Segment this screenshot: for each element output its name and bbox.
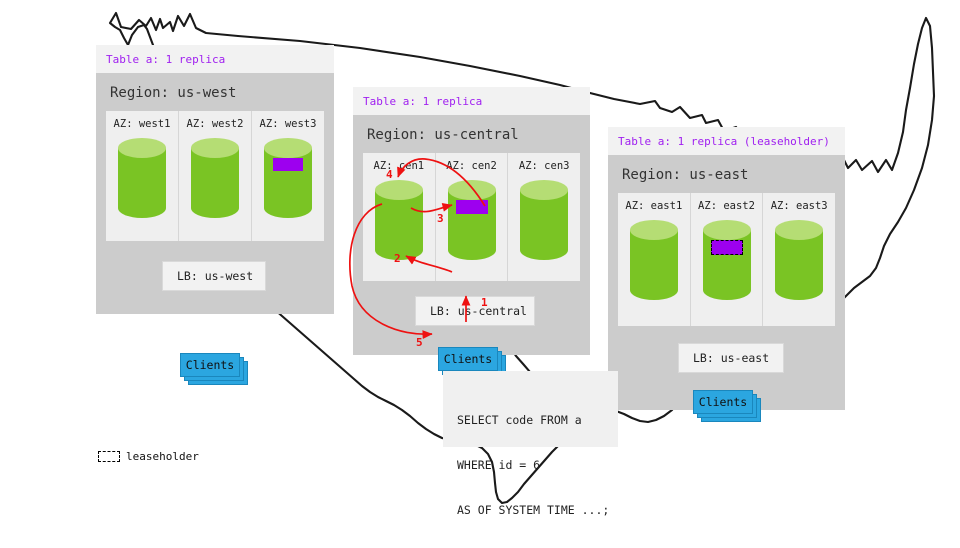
load-balancer-us-east[interactable]: LB: us-east <box>678 343 784 373</box>
region-title-us-central: Region: us-central <box>353 115 590 153</box>
az-label-west2: AZ: west2 <box>187 118 244 130</box>
az-label-east3: AZ: east3 <box>771 200 828 212</box>
flow-number-3: 3 <box>437 212 444 225</box>
clients-label-us-west[interactable]: Clients <box>180 353 240 377</box>
region-panel-us-east: Table a: 1 replica (leaseholder) Region:… <box>608 127 845 410</box>
node-cylinder-cen3[interactable] <box>519 179 569 261</box>
az-cell-east3[interactable]: AZ: east3 <box>763 193 835 326</box>
az-cell-west2[interactable]: AZ: west2 <box>179 111 252 241</box>
flow-number-2: 2 <box>394 252 401 265</box>
range-replica-west3[interactable] <box>273 158 303 171</box>
leaseholder-swatch-icon <box>98 451 120 462</box>
load-balancer-us-central[interactable]: LB: us-central <box>415 296 535 326</box>
az-label-east1: AZ: east1 <box>625 200 682 212</box>
az-row-us-east: AZ: east1 AZ: east2 <box>618 193 835 326</box>
region-title-us-east: Region: us-east <box>608 155 845 193</box>
load-balancer-us-west[interactable]: LB: us-west <box>162 261 266 291</box>
node-cylinder-west1[interactable] <box>117 137 167 219</box>
az-label-cen2: AZ: cen2 <box>446 160 497 172</box>
node-cylinder-east2[interactable] <box>702 219 752 301</box>
range-replica-cen2[interactable] <box>456 200 488 214</box>
az-label-west1: AZ: west1 <box>114 118 171 130</box>
flow-number-5: 5 <box>416 336 423 349</box>
region-panel-us-central: Table a: 1 replica Region: us-central AZ… <box>353 87 590 355</box>
az-cell-west1[interactable]: AZ: west1 <box>106 111 179 241</box>
region-body-us-central: Region: us-central AZ: cen1 AZ: cen2 <box>353 115 590 355</box>
node-cylinder-west3[interactable] <box>263 137 313 219</box>
legend-label: leaseholder <box>126 450 199 463</box>
az-row-us-west: AZ: west1 AZ: west2 <box>106 111 324 241</box>
sql-query-box: SELECT code FROM a WHERE id = 6 AS OF SY… <box>443 371 618 447</box>
sql-line-2: WHERE id = 6 <box>457 458 604 473</box>
sql-line-3: AS OF SYSTEM TIME ...; <box>457 503 604 518</box>
az-label-cen1: AZ: cen1 <box>374 160 425 172</box>
clients-label-us-east[interactable]: Clients <box>693 390 753 414</box>
legend: leaseholder <box>98 450 199 463</box>
az-cell-east2[interactable]: AZ: east2 <box>691 193 764 326</box>
node-cylinder-west2[interactable] <box>190 137 240 219</box>
sql-line-1: SELECT code FROM a <box>457 413 604 428</box>
az-label-east2: AZ: east2 <box>698 200 755 212</box>
clients-stack-us-east[interactable]: Clients <box>693 390 753 414</box>
diagram-canvas: Table a: 1 replica Region: us-west AZ: w… <box>0 0 960 540</box>
az-cell-west3[interactable]: AZ: west3 <box>252 111 324 241</box>
node-cylinder-east3[interactable] <box>774 219 824 301</box>
az-cell-east1[interactable]: AZ: east1 <box>618 193 691 326</box>
region-header-us-central: Table a: 1 replica <box>353 87 590 115</box>
az-cell-cen2[interactable]: AZ: cen2 <box>436 153 509 281</box>
range-replica-leaseholder-east2[interactable] <box>711 240 743 255</box>
region-body-us-west: Region: us-west AZ: west1 AZ: west2 <box>96 73 334 314</box>
flow-number-4: 4 <box>386 168 393 181</box>
az-label-cen3: AZ: cen3 <box>519 160 570 172</box>
node-cylinder-east1[interactable] <box>629 219 679 301</box>
region-panel-us-west: Table a: 1 replica Region: us-west AZ: w… <box>96 45 334 314</box>
region-body-us-east: Region: us-east AZ: east1 AZ: east2 <box>608 155 845 410</box>
clients-label-us-central[interactable]: Clients <box>438 347 498 371</box>
node-cylinder-cen1[interactable] <box>374 179 424 261</box>
node-cylinder-cen2[interactable] <box>447 179 497 261</box>
region-header-us-east: Table a: 1 replica (leaseholder) <box>608 127 845 155</box>
region-title-us-west: Region: us-west <box>96 73 334 111</box>
flow-number-1: 1 <box>481 296 488 309</box>
az-cell-cen3[interactable]: AZ: cen3 <box>508 153 580 281</box>
region-header-us-west: Table a: 1 replica <box>96 45 334 73</box>
clients-stack-us-central[interactable]: Clients <box>438 347 498 371</box>
az-label-west3: AZ: west3 <box>260 118 317 130</box>
clients-stack-us-west[interactable]: Clients <box>180 353 240 377</box>
